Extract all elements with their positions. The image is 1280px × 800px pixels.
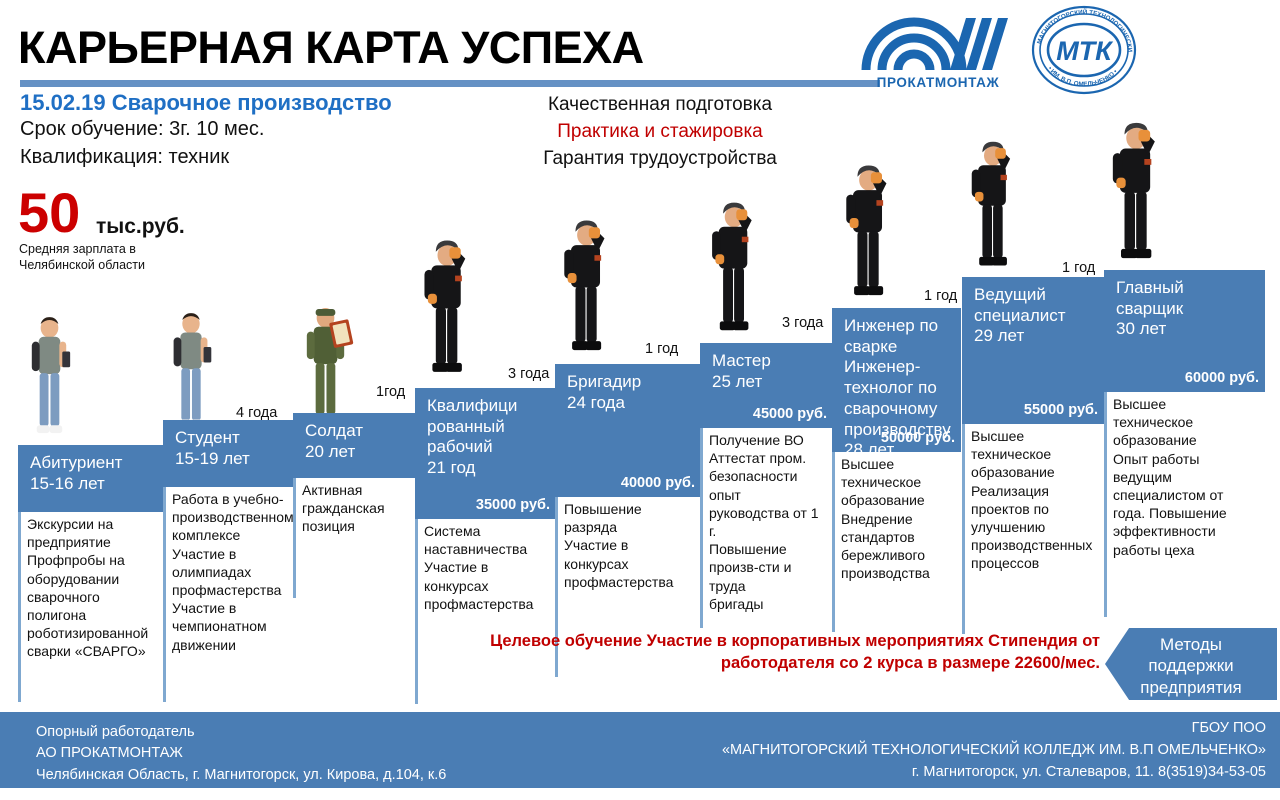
step-details: Система наставничества Участие в конкурс… (415, 519, 556, 704)
footer-employer-info: Опорный работодатель АО ПРОКАТМОНТАЖ Чел… (36, 722, 446, 786)
step-details: Экскурсии на предприятие Профпробы на об… (18, 512, 164, 702)
step-header: Солдат 20 лет (293, 413, 416, 478)
bottom-promo-text: Целевое обучение Участие в корпоративных… (470, 630, 1100, 675)
step-title: Студент 15-19 лет (175, 428, 284, 469)
step-title: Квалифици рованный рабочий 21 год (427, 396, 546, 479)
step-salary-badge: 45000 руб. (753, 406, 827, 424)
step-details: Активная гражданская позиция (293, 478, 416, 598)
step-salary-badge: 60000 руб. (1185, 370, 1259, 388)
career-step[interactable]: Мастер 25 лет45000 руб.Получение ВО Атте… (700, 0, 833, 720)
step-header: Бригадир 24 года40000 руб. (555, 364, 701, 497)
step-title: Абитуриент 15-16 лет (30, 453, 154, 494)
step-header: Инженер по сварке Инженер- технолог по с… (832, 308, 961, 452)
career-step[interactable]: Студент 15-19 летРабота в учебно- произв… (163, 0, 294, 720)
step-details: Высшее техническое образование Реализаци… (962, 424, 1104, 634)
career-step[interactable]: Главный сварщик 30 лет60000 руб.Высшее т… (1104, 0, 1265, 720)
career-step[interactable]: Абитуриент 15-16 летЭкскурсии на предпри… (18, 0, 164, 720)
step-header: Студент 15-19 лет (163, 420, 294, 487)
step-salary-badge: 40000 руб. (621, 475, 695, 493)
step-details: Высшее техническое образование Опыт рабо… (1104, 392, 1265, 617)
step-title: Главный сварщик 30 лет (1116, 278, 1255, 340)
step-header: Мастер 25 лет45000 руб. (700, 343, 833, 428)
step-header: Абитуриент 15-16 лет (18, 445, 164, 512)
step-title: Солдат 20 лет (305, 421, 406, 462)
support-methods-arrow: Методы поддержки предприятия (1105, 628, 1277, 700)
footer-college-info: ГБОУ ПОО «МАГНИТОГОРСКИЙ ТЕХНОЛОГИЧЕСКИЙ… (486, 718, 1266, 783)
step-header: Квалифици рованный рабочий 21 год35000 р… (415, 388, 556, 519)
step-title: Ведущий специалист 29 лет (974, 285, 1094, 347)
career-step[interactable]: Квалифици рованный рабочий 21 год35000 р… (415, 0, 556, 720)
step-header: Главный сварщик 30 лет60000 руб. (1104, 270, 1265, 392)
career-step[interactable]: Бригадир 24 года40000 руб.Повышение разр… (555, 0, 701, 720)
step-header: Ведущий специалист 29 лет55000 руб. (962, 277, 1104, 424)
step-title: Бригадир 24 года (567, 372, 691, 413)
step-details: Получение ВО Аттестат пром. безопасности… (700, 428, 833, 628)
step-salary-badge: 35000 руб. (476, 497, 550, 515)
step-details: Работа в учебно- производственном компле… (163, 487, 294, 702)
career-step[interactable]: Солдат 20 летАктивная гражданская позици… (293, 0, 416, 720)
career-step[interactable]: Инженер по сварке Инженер- технолог по с… (832, 0, 961, 720)
step-details: Высшее техническое образование Внедрение… (832, 452, 961, 632)
career-step[interactable]: Ведущий специалист 29 лет55000 руб.Высше… (962, 0, 1104, 720)
step-title: Мастер 25 лет (712, 351, 823, 392)
step-salary-badge: 50000 руб. (881, 430, 955, 448)
step-salary-badge: 55000 руб. (1024, 402, 1098, 420)
infographic-root: КАРЬЕРНАЯ КАРТА УСПЕХА 15.02.19 Сварочно… (0, 0, 1280, 800)
